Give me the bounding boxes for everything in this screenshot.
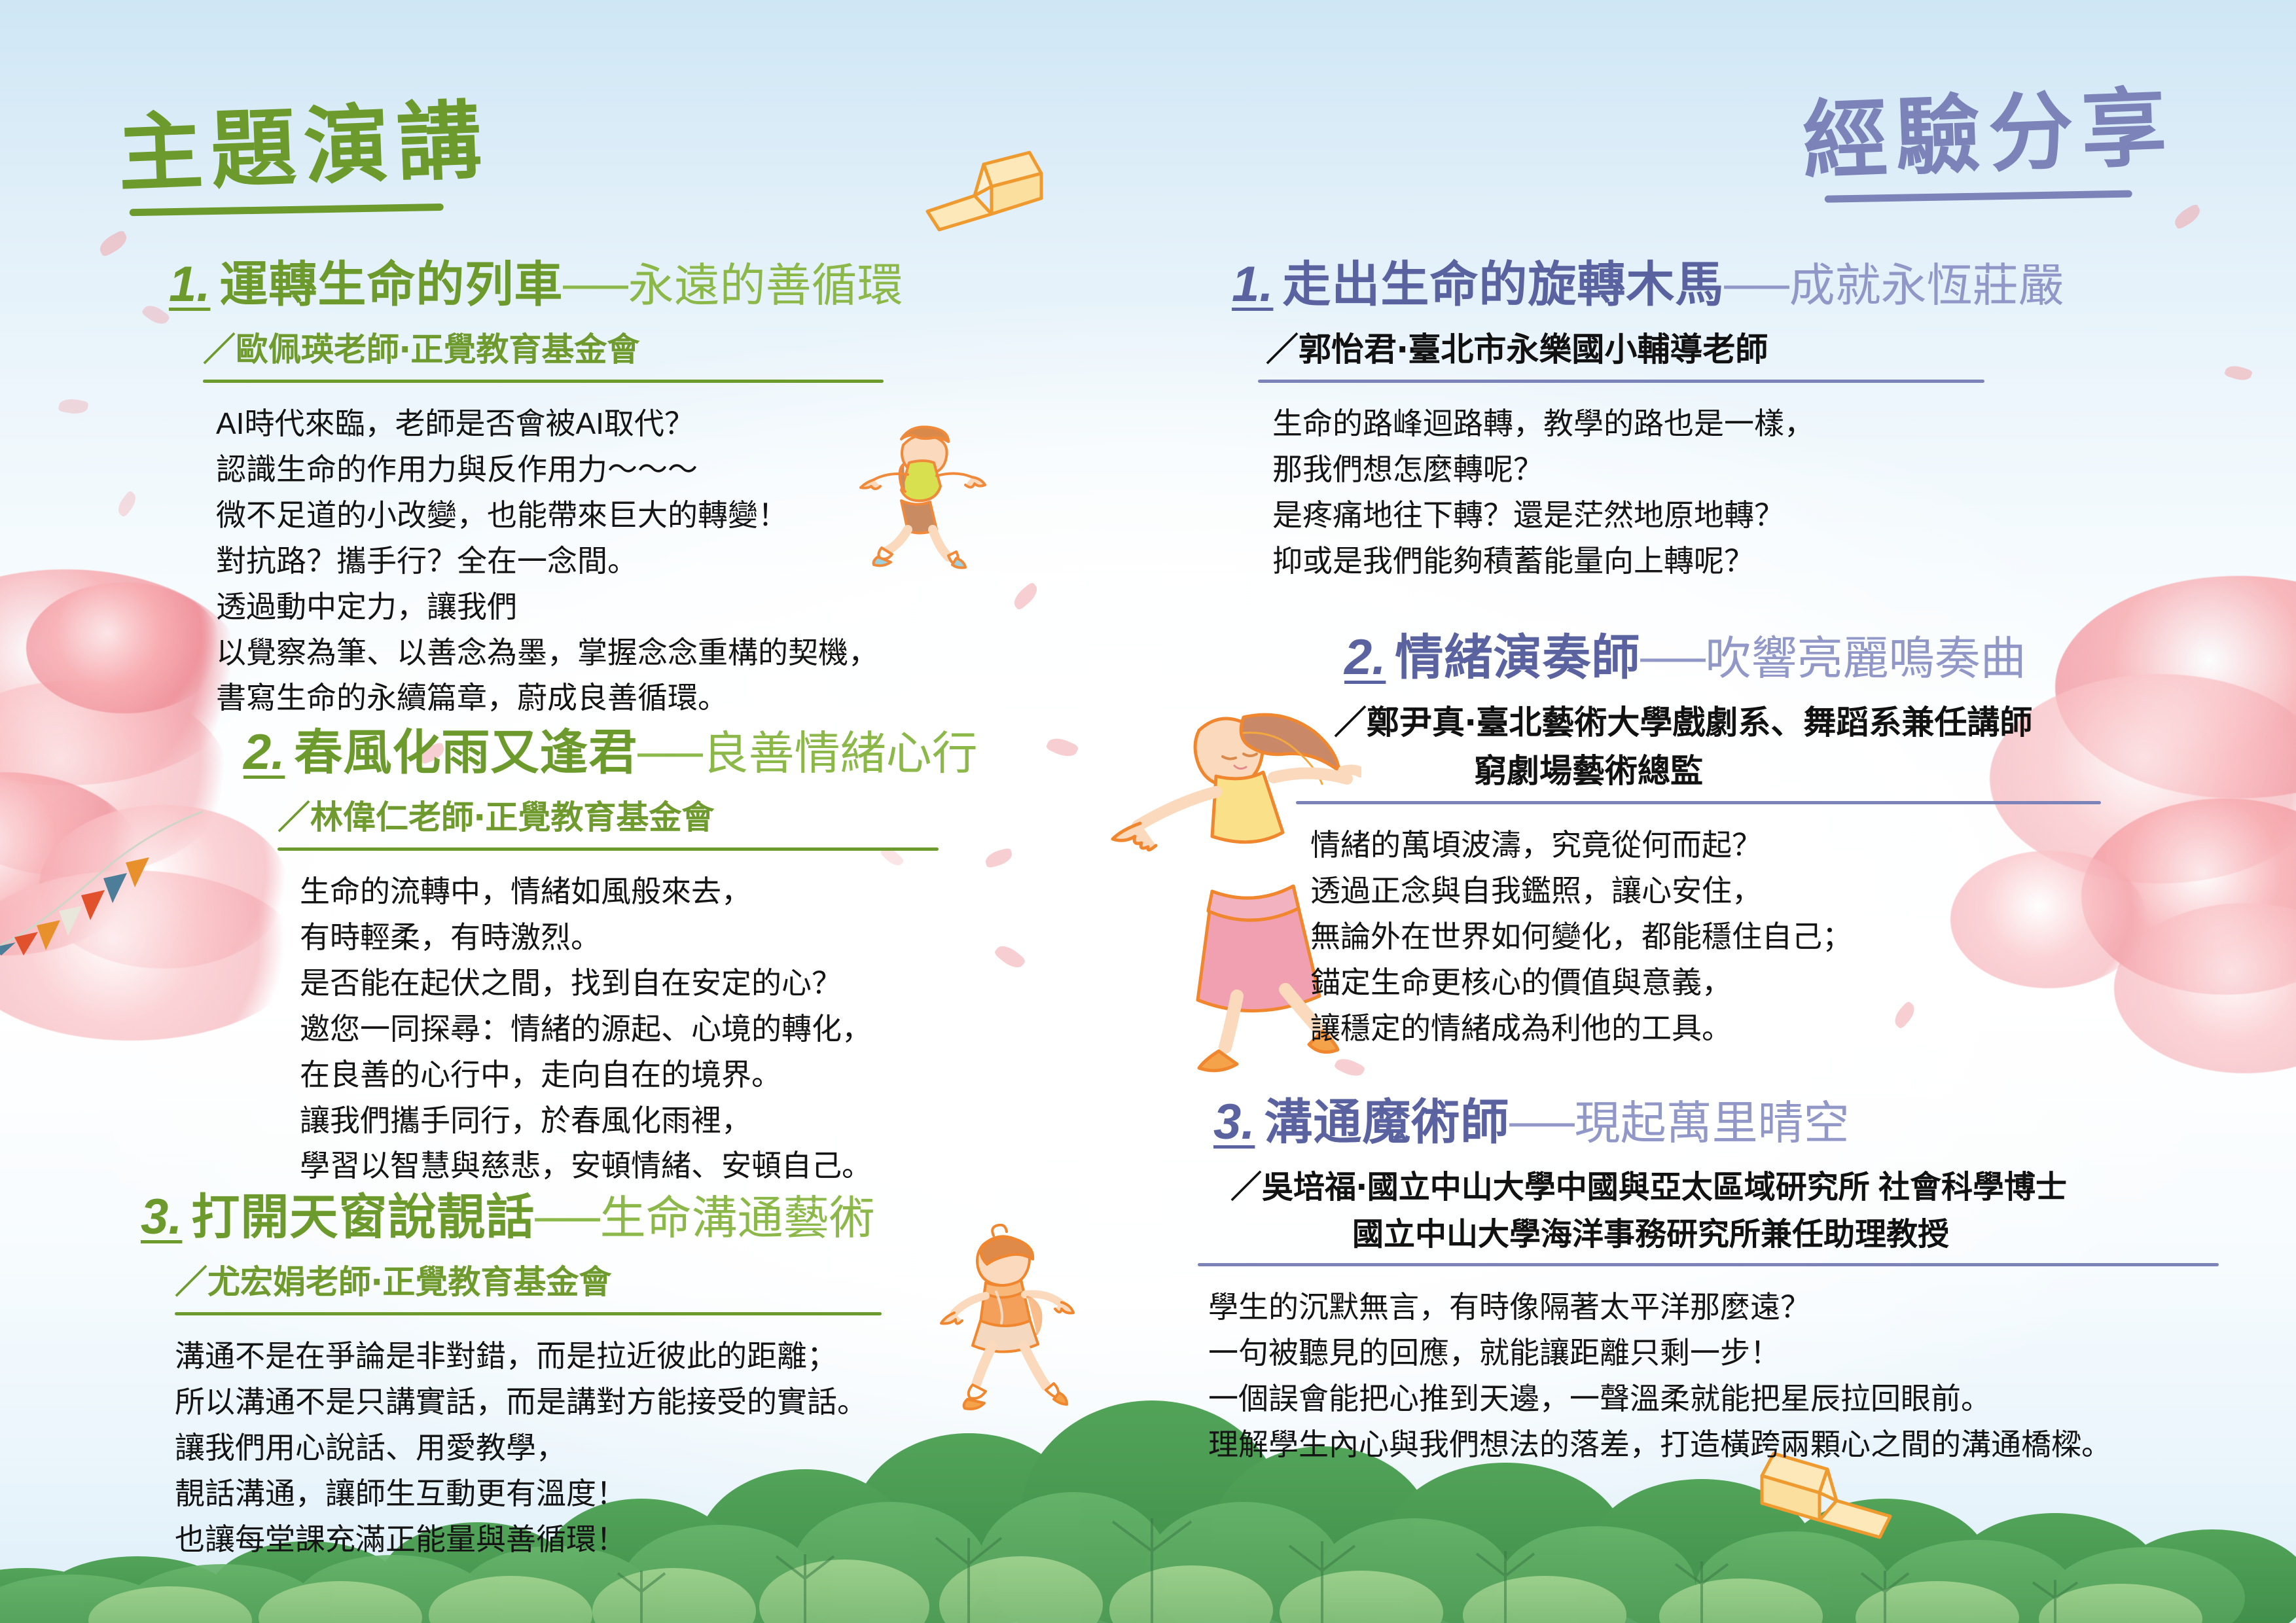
left-item-1-line-1: AI時代來臨，老師是否會被AI取代？: [216, 401, 1007, 447]
left-item-3: 3. 打開天窗說靚話 ── 生命溝通藝術 ／尤宏娟老師‧正覺教育基金會 溝通不是…: [141, 1178, 992, 1563]
right-item-2-body: 情緒的萬頃波濤，究竟從何而起？ 透過正念與自我鑑照，讓心安住， 無論外在世界如何…: [1310, 823, 2195, 1052]
right-item-2-line-3: 無論外在世界如何變化，都能穩住自己；: [1310, 914, 2195, 960]
left-item-1-line-6: 以覺察為筆、以善念為墨，掌握念念重構的契機，: [216, 630, 1007, 676]
left-item-2-dash: ──: [637, 727, 702, 779]
left-item-3-line-3: 讓我們用心說話、用愛教學，: [175, 1425, 992, 1471]
right-item-1-divider: [1258, 380, 1984, 383]
left-item-1-dash: ──: [563, 259, 628, 312]
flying-book-top-icon: [913, 141, 1057, 239]
right-item-3-body: 學生的沉默無言，有時像隔著太平洋那麼遠？ 一句被聽見的回應，就能讓距離只剩一步！…: [1208, 1285, 2274, 1468]
left-item-1-body: AI時代來臨，老師是否會被AI取代？ 認識生命的作用力與反作用力～～～ 微不足道…: [216, 401, 1007, 721]
left-item-3-number: 3.: [141, 1188, 182, 1245]
left-item-1-line-2: 認識生命的作用力與反作用力～～～: [216, 447, 1007, 493]
left-item-3-line-1: 溝通不是在爭論是非對錯，而是拉近彼此的距離；: [175, 1334, 992, 1380]
right-heading-underline: [1825, 190, 2132, 203]
right-item-2-line-2: 透過正念與自我鑑照，讓心安住，: [1310, 868, 2195, 914]
petal-3: [58, 397, 88, 416]
left-item-1-line-3: 微不足道的小改變，也能帶來巨大的轉變！: [216, 493, 1007, 539]
right-item-1-number: 1.: [1232, 256, 1273, 313]
right-item-3-speaker: ／吳培福‧國立中山大學中國與亞太區域研究所 社會科學博士: [1230, 1161, 2274, 1207]
left-heading-text: 主題演講: [116, 90, 491, 204]
right-item-3-title: 溝通魔術師: [1264, 1083, 1509, 1153]
right-item-2-speaker: ／鄭尹真‧臺北藝術大學戲劇系、舞蹈系兼任講師: [1334, 696, 2195, 743]
right-item-3-line-1: 學生的沉默無言，有時像隔著太平洋那麼遠？: [1208, 1285, 2274, 1330]
right-item-1-line-1: 生命的路峰迴路轉，教學的路也是一樣，: [1272, 401, 2148, 447]
left-item-3-line-4: 靚話溝通，讓師生互動更有溫度！: [175, 1471, 992, 1517]
right-item-3-headline: 3. 溝通魔術師 ── 現起萬里晴空: [1213, 1083, 2274, 1153]
blossom-cluster-left-3: [0, 772, 144, 955]
right-item-2-title: 情緒演奏師: [1395, 618, 1640, 688]
left-heading-underline: [130, 204, 444, 216]
left-item-1: 1. 運轉生命的列車 ── 永遠的善循環 ／歐佩瑛老師‧正覺教育基金會 AI時代…: [169, 245, 1007, 721]
petal-1: [96, 230, 130, 258]
petal-4: [114, 490, 139, 518]
petal-2: [141, 301, 170, 328]
right-item-1: 1. 走出生命的旋轉木馬 ── 成就永恆莊嚴 ／郭怡君‧臺北市永樂國小輔導老師 …: [1232, 245, 2148, 584]
right-item-1-title: 走出生命的旋轉木馬: [1282, 245, 1724, 315]
left-item-1-number: 1.: [169, 256, 210, 313]
left-item-2-number: 2.: [243, 724, 285, 781]
left-item-1-speaker: ／歐佩瑛老師‧正覺教育基金會: [203, 323, 1007, 370]
right-item-1-headline: 1. 走出生命的旋轉木馬 ── 成就永恆莊嚴: [1232, 245, 2148, 315]
left-item-1-divider: [203, 380, 884, 383]
left-heading: 主題演講: [115, 71, 492, 220]
right-item-3-number: 3.: [1213, 1094, 1255, 1150]
right-item-2: 2. 情緒演奏師 ── 吹響亮麗鳴奏曲 ／鄭尹真‧臺北藝術大學戲劇系、舞蹈系兼任…: [1344, 618, 2195, 1052]
right-heading-text: 經驗分享: [1801, 77, 2176, 191]
left-item-2-title: 春風化雨又逢君: [294, 713, 637, 783]
right-item-3-divider: [1198, 1263, 2219, 1266]
left-item-1-headline: 1. 運轉生命的列車 ── 永遠的善循環: [169, 245, 1007, 315]
left-item-2-divider: [278, 847, 939, 851]
right-item-3-dash: ──: [1509, 1097, 1574, 1149]
left-item-3-subtitle: 生命溝通藝術: [600, 1181, 875, 1247]
left-item-2-line-3: 是否能在起伏之間，找到自在安定的心？: [300, 961, 1029, 1007]
right-item-2-subtitle: 吹響亮麗鳴奏曲: [1706, 622, 2026, 688]
right-item-1-line-4: 抑或是我們能夠積蓄能量向上轉呢？: [1272, 539, 2148, 584]
left-item-2-line-4: 邀您一同探尋：情緒的源起、心境的轉化，: [300, 1007, 1029, 1052]
poster-canvas: 主題演講 1. 運轉生命的列車 ── 永遠的善循環 ／歐佩瑛老師‧正覺教育基金會…: [0, 0, 2296, 1623]
left-item-3-speaker: ／尤宏娟老師‧正覺教育基金會: [175, 1256, 992, 1303]
left-item-2-line-5: 在良善的心行中，走向自在的境界。: [300, 1052, 1029, 1098]
petal-5: [1010, 581, 1041, 611]
left-item-3-body: 溝通不是在爭論是非對錯，而是拉近彼此的距離； 所以溝通不是只講實話，而是講對方能…: [175, 1334, 992, 1563]
right-item-2-line-4: 錨定生命更核心的價值與意義，: [1310, 960, 2195, 1006]
right-item-1-dash: ──: [1724, 259, 1789, 312]
left-item-1-title: 運轉生命的列車: [219, 245, 563, 315]
left-item-1-subtitle: 永遠的善循環: [628, 249, 903, 315]
left-item-3-dash: ──: [535, 1192, 600, 1244]
left-item-2-line-1: 生命的流轉中，情緒如風般來去，: [300, 869, 1029, 915]
right-item-2-speaker-line2: 窮劇場藝術總監: [1474, 745, 2195, 792]
right-item-2-line-1: 情緒的萬頃波濤，究竟從何而起？: [1310, 823, 2195, 868]
left-item-3-line-2: 所以溝通不是只講實話，而是講對方能接受的實話。: [175, 1380, 992, 1425]
left-item-2-speaker: ／林偉仁老師‧正覺教育基金會: [278, 791, 1029, 838]
petal-10: [2224, 363, 2253, 383]
right-item-1-subtitle: 成就永恆莊嚴: [1789, 249, 2064, 315]
right-item-2-line-5: 讓穩定的情緒成為利他的工具。: [1310, 1006, 2195, 1052]
right-item-3: 3. 溝通魔術師 ── 現起萬里晴空 ／吳培福‧國立中山大學中國與亞太區域研究所…: [1213, 1083, 2274, 1468]
right-item-1-line-2: 那我們想怎麼轉呢？: [1272, 447, 2148, 493]
left-item-2-headline: 2. 春風化雨又逢君 ── 良善情緒心行: [243, 713, 1029, 783]
bunting-flags: [0, 785, 209, 955]
left-item-3-line-5: 也讓每堂課充滿正能量與善循環！: [175, 1517, 992, 1563]
right-item-3-subtitle: 現起萬里晴空: [1575, 1086, 1850, 1152]
left-item-1-line-5: 透過動中定力，讓我們: [216, 584, 1007, 630]
right-item-2-headline: 2. 情緒演奏師 ── 吹響亮麗鳴奏曲: [1344, 618, 2195, 688]
right-item-1-speaker: ／郭怡君‧臺北市永樂國小輔導老師: [1266, 323, 2148, 370]
right-item-2-divider: [1296, 801, 2101, 804]
right-item-2-dash: ──: [1640, 632, 1705, 685]
right-item-2-number: 2.: [1344, 629, 1386, 686]
left-item-3-divider: [175, 1312, 882, 1315]
left-item-2: 2. 春風化雨又逢君 ── 良善情緒心行 ／林偉仁老師‧正覺教育基金會 生命的流…: [243, 713, 1029, 1189]
right-heading: 經驗分享: [1800, 58, 2176, 207]
right-item-1-body: 生命的路峰迴路轉，教學的路也是一樣， 那我們想怎麼轉呢？ 是疼痛地往下轉？還是茫…: [1272, 401, 2148, 584]
left-item-1-line-4: 對抗路？攜手行？全在一念間。: [216, 539, 1007, 584]
left-item-3-title: 打開天窗說靚話: [191, 1178, 535, 1248]
petal-9: [2171, 203, 2203, 230]
right-item-3-speaker-line2: 國立中山大學海洋事務研究所兼任助理教授: [1352, 1208, 2274, 1254]
left-item-2-body: 生命的流轉中，情緒如風般來去， 有時輕柔，有時激烈。 是否能在起伏之間，找到自在…: [300, 869, 1029, 1189]
right-item-3-line-2: 一句被聽見的回應，就能讓距離只剩一步！: [1208, 1330, 2274, 1376]
right-item-3-line-4: 理解學生內心與我們想法的落差，打造橫跨兩顆心之間的溝通橋樑。: [1208, 1422, 2274, 1468]
left-item-2-subtitle: 良善情緒心行: [703, 717, 978, 783]
left-item-3-headline: 3. 打開天窗說靚話 ── 生命溝通藝術: [141, 1178, 992, 1248]
left-item-2-line-6: 讓我們攜手同行，於春風化雨裡，: [300, 1098, 1029, 1144]
right-item-3-line-3: 一個誤會能把心推到天邊，一聲溫柔就能把星辰拉回眼前。: [1208, 1376, 2274, 1422]
right-item-1-line-3: 是疼痛地往下轉？還是茫然地原地轉？: [1272, 493, 2148, 539]
left-item-2-line-2: 有時輕柔，有時激烈。: [300, 915, 1029, 961]
